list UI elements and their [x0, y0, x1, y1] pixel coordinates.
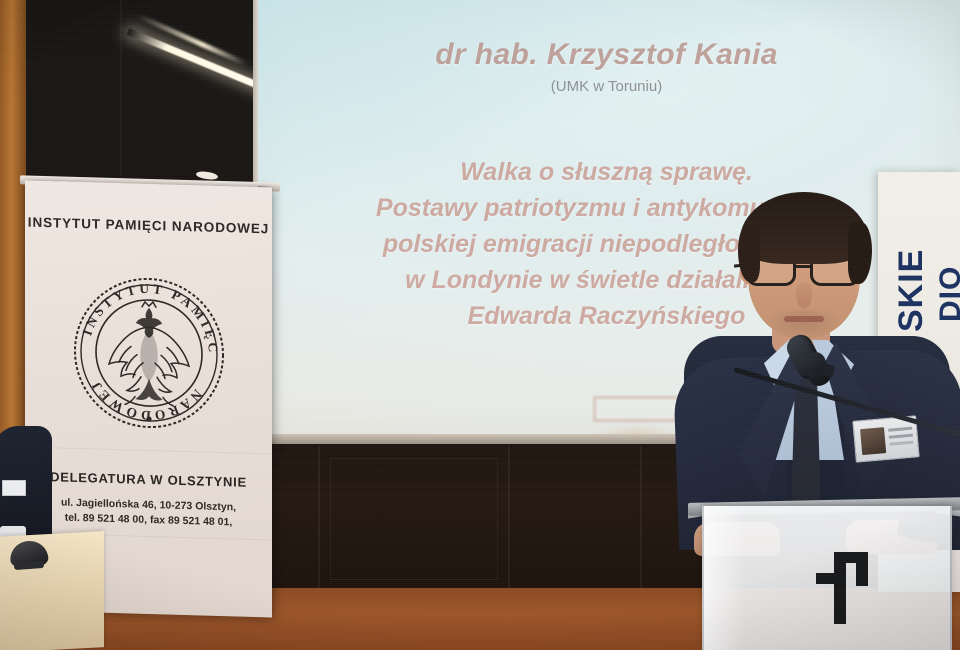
banner-left-delegation: DELEGATURA W OLSZTYNIE	[25, 469, 272, 491]
slide-body-line: Walka o słuszną sprawę.	[253, 154, 960, 190]
cabinet-seam	[508, 446, 510, 596]
slide-affiliation: (UMK w Toruniu)	[253, 78, 960, 95]
ipn-logo-icon	[816, 552, 868, 624]
wood-column	[0, 0, 26, 470]
hair-side-right	[848, 222, 872, 284]
svg-text:NARODOWEJ: NARODOWEJ	[87, 376, 205, 425]
seated-person-badge	[2, 480, 26, 496]
screen-stain	[253, 322, 583, 442]
ipn-seal: INSTYTUT PAMIĘCI NARODOWEJ	[69, 267, 229, 444]
logo-descender	[856, 552, 868, 586]
banner-fold	[25, 447, 272, 455]
hair-side-left	[738, 224, 760, 282]
banner-left-heading: INSTYTUT PAMIĘCI NARODOWEJ	[25, 215, 272, 237]
cabinet-seam	[318, 446, 320, 596]
slide-speaker-title: dr hab. Krzysztof Kania	[253, 38, 960, 72]
podium	[702, 506, 952, 650]
glasses-bridge	[796, 265, 812, 268]
badge-photo	[860, 427, 886, 455]
cabinet-door-inset	[330, 458, 498, 580]
banner-left-address: ul. Jagiellońska 46, 10-273 Olsztyn, tel…	[25, 495, 272, 532]
ipn-seal-svg: INSTYTUT PAMIĘCI NARODOWEJ	[69, 267, 229, 439]
podium-sheen	[704, 506, 746, 650]
badge-text-lines	[888, 427, 912, 432]
mouth	[784, 316, 824, 322]
photo-scene: dr hab. Krzysztof Kania (UMK w Toruniu) …	[0, 0, 960, 650]
logo-crossbar	[816, 573, 836, 584]
cabinet-seam	[640, 446, 642, 596]
